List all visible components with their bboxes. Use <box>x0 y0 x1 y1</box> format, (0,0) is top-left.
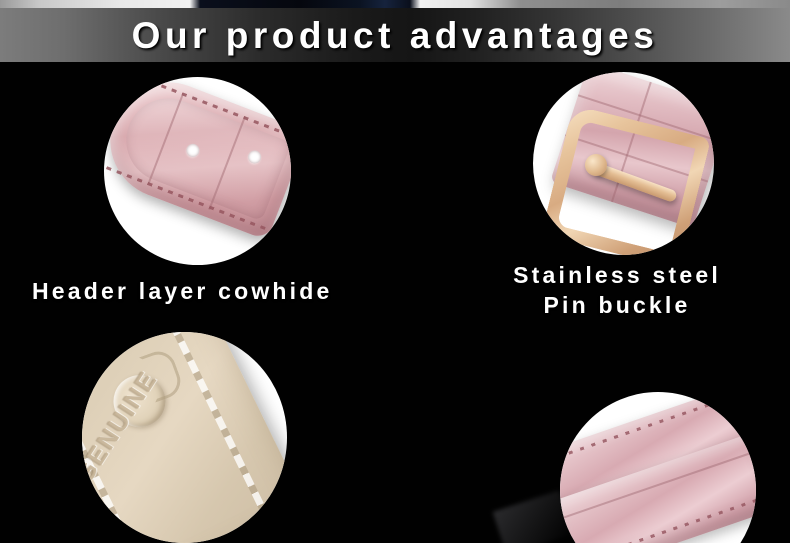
genuine-leather-surface: GENUINE <box>82 332 287 543</box>
top-edge-strip <box>0 0 790 8</box>
photo-rose-gold-pin-buckle <box>533 72 714 255</box>
photo-pink-leather-strap-pair <box>560 392 756 543</box>
caption-line-1: Stainless steel <box>513 262 721 288</box>
product-advantages-banner: Our product advantages GEN <box>0 0 790 543</box>
buckle-pin-tip <box>585 154 607 176</box>
caption-stainless-steel-pin-buckle: Stainless steel Pin buckle <box>497 260 737 321</box>
caption-line-2: Pin buckle <box>497 290 737 320</box>
strap-tip-shape <box>104 77 291 240</box>
strap-tip-inner-panel <box>114 86 291 221</box>
photo-genuine-leather-emboss: GENUINE <box>82 332 287 543</box>
photo-pink-leather-strap-tip <box>104 77 291 265</box>
surface-reflection <box>493 490 574 543</box>
header-banner: Our product advantages <box>0 8 790 62</box>
strap-stitch-row <box>560 495 756 543</box>
caption-header-layer-cowhide: Header layer cowhide <box>32 276 333 306</box>
page-title: Our product advantages <box>132 17 659 54</box>
